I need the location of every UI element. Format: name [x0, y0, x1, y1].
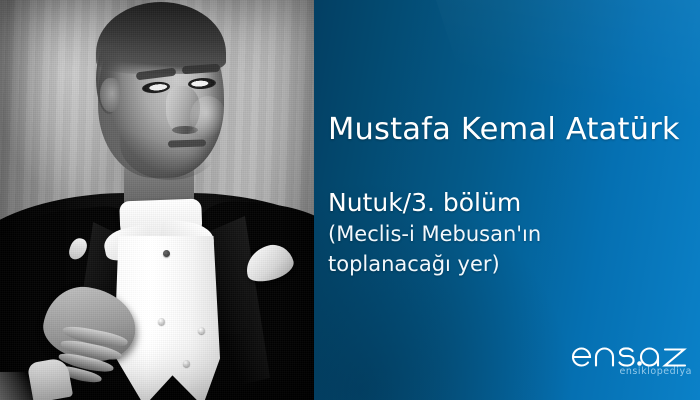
page-title: Mustafa Kemal Atatürk	[328, 112, 700, 147]
atataurk-article-banner: Mustafa Kemal Atatürk Nutuk/3. bölüm (Me…	[0, 0, 700, 400]
subtitle-block: Nutuk/3. bölüm (Meclis-i Mebusan'ın topl…	[328, 186, 700, 279]
waistcoat-stud-1	[163, 250, 170, 257]
subtitle-note-line-2: toplanacağı yer)	[328, 249, 700, 279]
portrait-photo	[0, 0, 314, 400]
ens-az-logo[interactable]: ensiklopediya	[570, 340, 692, 390]
waistcoat-button-4	[183, 360, 190, 367]
bottom-left-highlight	[0, 372, 34, 400]
ear	[100, 78, 120, 112]
waistcoat-button-3	[198, 327, 205, 334]
subtitle-chapter: Nutuk/3. bölüm	[328, 186, 700, 219]
waistcoat-button-2	[158, 318, 165, 325]
logo-tagline: ensiklopediya	[594, 366, 692, 377]
subtitle-note-line-1: (Meclis-i Mebusan'ın	[328, 219, 700, 249]
